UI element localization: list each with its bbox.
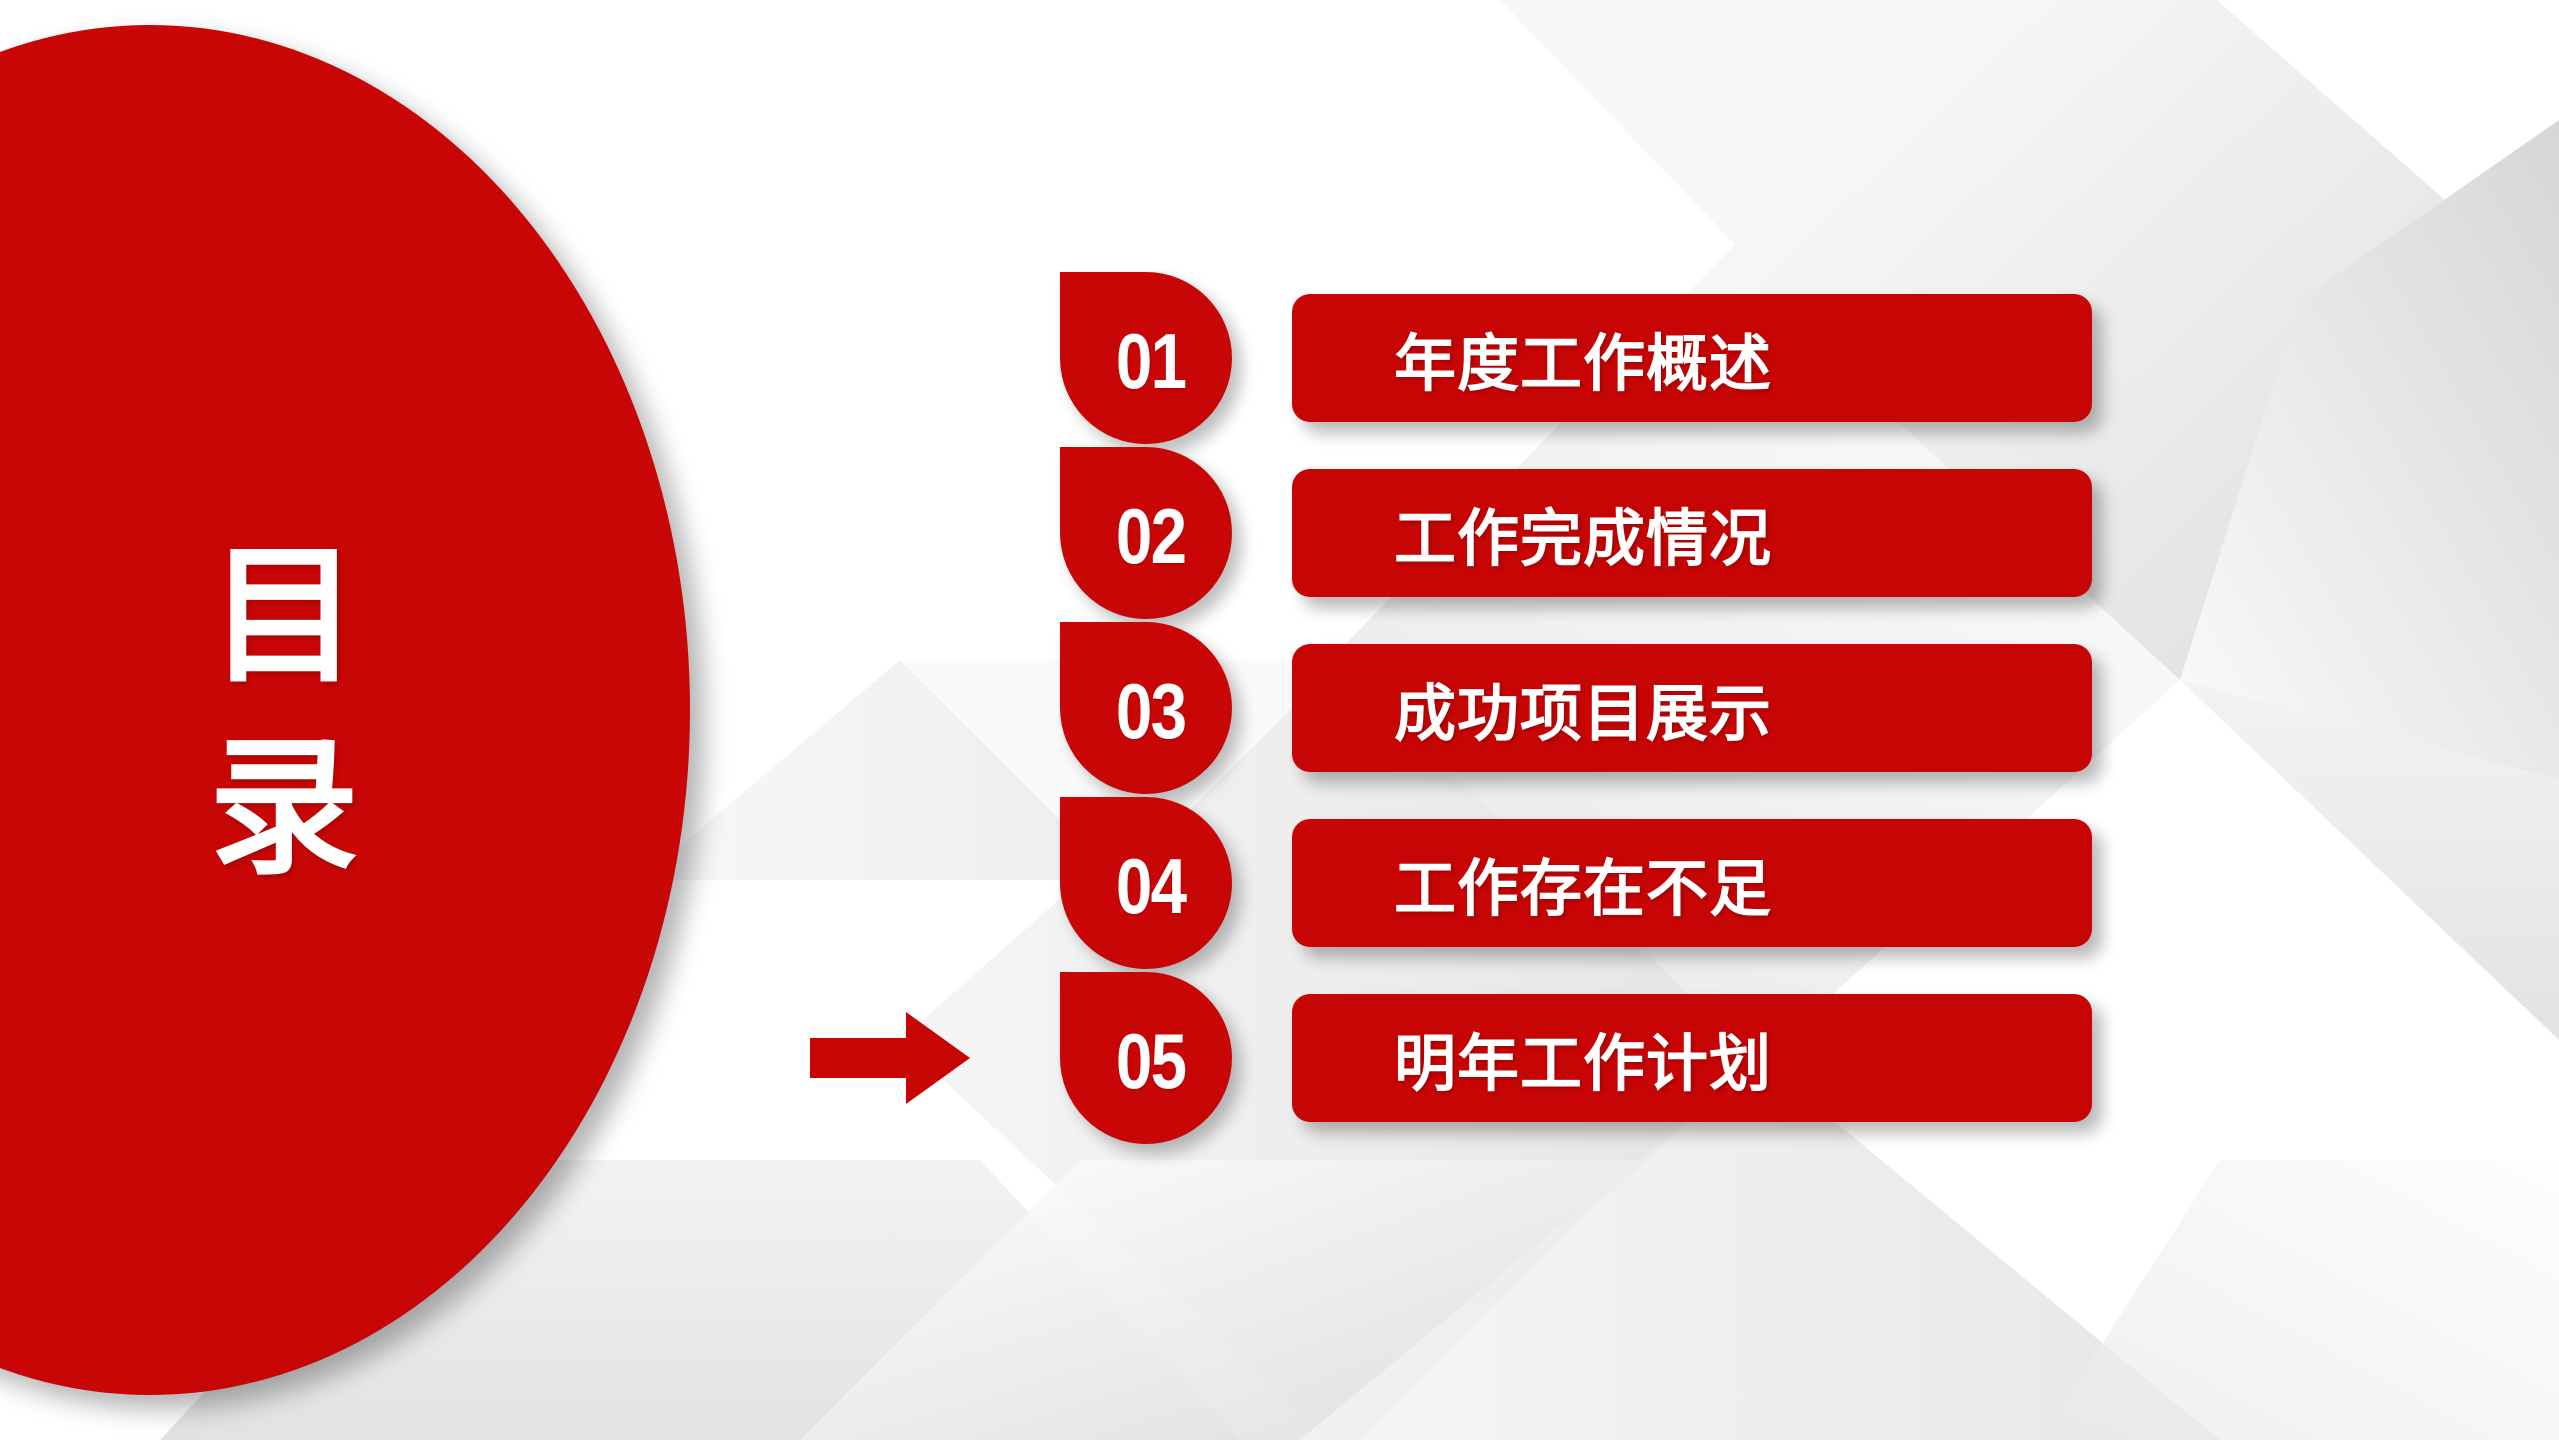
contents-number-04: 04 [1107,841,1185,925]
contents-label-04: 工作存在不足 [1292,838,1772,928]
contents-item-02[interactable]: 02 工作完成情况 [1060,445,2092,620]
contents-number-badge-03[interactable]: 03 [1060,622,1232,794]
contents-number-02: 02 [1107,491,1185,575]
contents-item-01[interactable]: 01 年度工作概述 [1060,270,2092,445]
contents-label-03: 成功项目展示 [1292,663,1772,753]
contents-item-05[interactable]: 05 明年工作计划 [1060,970,2092,1145]
contents-label-01: 年度工作概述 [1292,313,1772,403]
arrow-right-icon [810,1012,970,1104]
contents-number-01: 01 [1107,316,1185,400]
contents-number-badge-02[interactable]: 02 [1060,447,1232,619]
page-title-char-1: 目 [155,520,415,712]
page-title: 目 录 [155,520,415,904]
contents-number-03: 03 [1107,666,1185,750]
slide-canvas: 目 录 01 年度工作概述 02 工作完成情况 03 [0,0,2559,1440]
contents-label-bar-05[interactable]: 明年工作计划 [1292,994,2092,1122]
contents-label-bar-03[interactable]: 成功项目展示 [1292,644,2092,772]
contents-number-05: 05 [1107,1016,1185,1100]
contents-item-03[interactable]: 03 成功项目展示 [1060,620,2092,795]
arrow-right-glyph [810,1012,970,1104]
contents-number-badge-04[interactable]: 04 [1060,797,1232,969]
page-title-char-2: 录 [155,712,415,904]
contents-number-badge-01[interactable]: 01 [1060,272,1232,444]
contents-label-05: 明年工作计划 [1292,1013,1772,1103]
contents-item-04[interactable]: 04 工作存在不足 [1060,795,2092,970]
contents-label-bar-04[interactable]: 工作存在不足 [1292,819,2092,947]
contents-label-bar-01[interactable]: 年度工作概述 [1292,294,2092,422]
contents-label-bar-02[interactable]: 工作完成情况 [1292,469,2092,597]
contents-number-badge-05[interactable]: 05 [1060,972,1232,1144]
contents-label-02: 工作完成情况 [1292,488,1772,578]
contents-list: 01 年度工作概述 02 工作完成情况 03 成功项目展示 [1060,270,2092,1145]
